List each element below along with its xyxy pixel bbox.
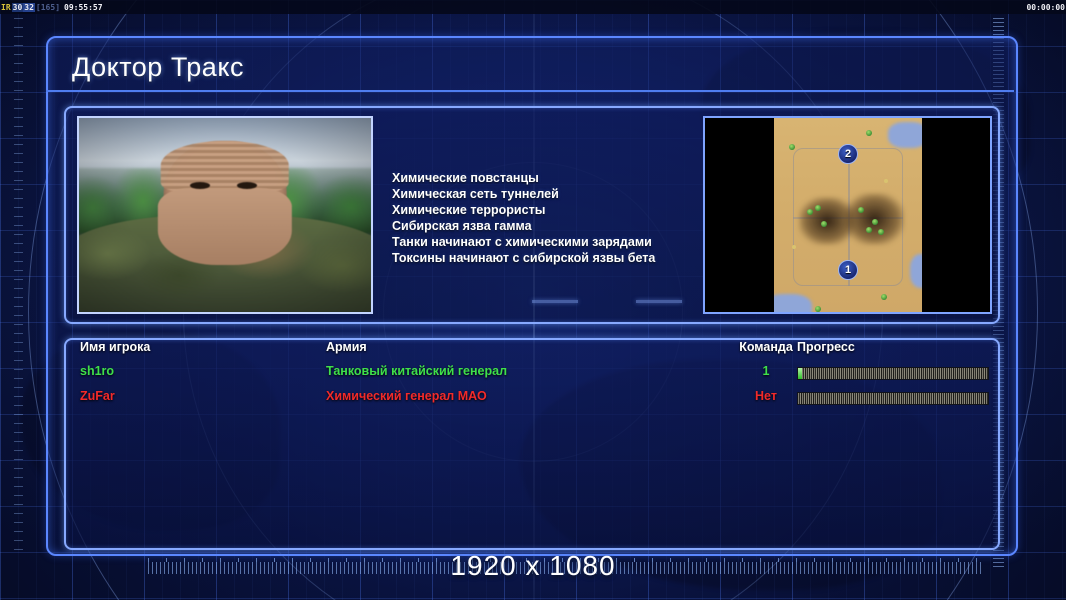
title-bar: Доктор Тракс xyxy=(46,44,1014,92)
portrait-vignette xyxy=(79,118,371,312)
minimap-start-position-1[interactable]: 1 xyxy=(838,260,858,280)
minimap-water-2 xyxy=(774,294,812,314)
minimap-tree xyxy=(878,229,884,235)
status-right-clock: 00:00:00 xyxy=(1025,3,1066,12)
description-line-1: Химические повстанцы xyxy=(392,170,692,186)
general-portrait xyxy=(77,116,373,314)
minimap-marker xyxy=(884,179,888,183)
panel-divider-left xyxy=(532,300,578,303)
player-name[interactable]: sh1ro xyxy=(80,364,114,378)
player-table-header: Имя игрока Армия Команда Прогресс xyxy=(64,340,1000,360)
ruler-left xyxy=(14,18,23,554)
general-description: Химические повстанцы Химическая сеть тун… xyxy=(392,170,692,266)
description-line-3: Химические террористы xyxy=(392,202,692,218)
status-ir-label: IR xyxy=(0,3,12,12)
table-row[interactable]: ZuFar Химический генерал МАО Нет xyxy=(64,389,1000,411)
resolution-overlay: 1920 x 1080 xyxy=(0,550,1066,582)
description-line-5: Танки начинают с химическими зарядами xyxy=(392,234,692,250)
status-number-1: 30 xyxy=(12,3,24,12)
player-team[interactable]: Нет xyxy=(736,389,796,403)
header-progress: Прогресс xyxy=(797,340,855,354)
minimap-start-position-2[interactable]: 2 xyxy=(838,144,858,164)
status-clock: 09:55:57 xyxy=(63,3,104,12)
minimap-terrain: 1 2 xyxy=(774,118,922,314)
minimap-tree xyxy=(866,130,872,136)
page-title: Доктор Тракс xyxy=(72,52,244,83)
progress-lead-indicator xyxy=(798,368,802,379)
minimap-tree xyxy=(866,227,872,233)
minimap-preview[interactable]: 1 2 xyxy=(703,116,992,314)
minimap-tree xyxy=(789,144,795,150)
header-army: Армия xyxy=(326,340,367,354)
table-row[interactable]: sh1ro Танковый китайский генерал 1 xyxy=(64,364,1000,386)
player-progress-bar xyxy=(797,367,989,380)
status-bracket: [165] xyxy=(35,3,61,12)
header-player-name: Имя игрока xyxy=(80,340,150,354)
description-line-2: Химическая сеть туннелей xyxy=(392,186,692,202)
player-army[interactable]: Химический генерал МАО xyxy=(326,389,487,403)
panel-divider-right xyxy=(636,300,682,303)
player-army[interactable]: Танковый китайский генерал xyxy=(326,364,507,378)
minimap-water-3 xyxy=(910,254,922,288)
minimap-water-1 xyxy=(888,122,922,148)
minimap-tree xyxy=(815,306,821,312)
game-lobby-screen: IR 30 32 [165] 09:55:57 00:00:00 Доктор … xyxy=(0,0,1066,600)
player-team[interactable]: 1 xyxy=(736,364,796,378)
status-number-2: 32 xyxy=(23,3,35,12)
header-team: Команда xyxy=(736,340,796,354)
minimap-tree xyxy=(881,294,887,300)
top-status-bar: IR 30 32 [165] 09:55:57 00:00:00 xyxy=(0,0,1066,14)
minimap-marker xyxy=(792,245,796,249)
minimap-tree xyxy=(807,209,813,215)
description-line-4: Сибирская язва гамма xyxy=(392,218,692,234)
player-name[interactable]: ZuFar xyxy=(80,389,115,403)
player-progress-bar xyxy=(797,392,989,405)
description-line-6: Токсины начинают с сибирской язвы бета xyxy=(392,250,692,266)
minimap-tree xyxy=(872,219,878,225)
